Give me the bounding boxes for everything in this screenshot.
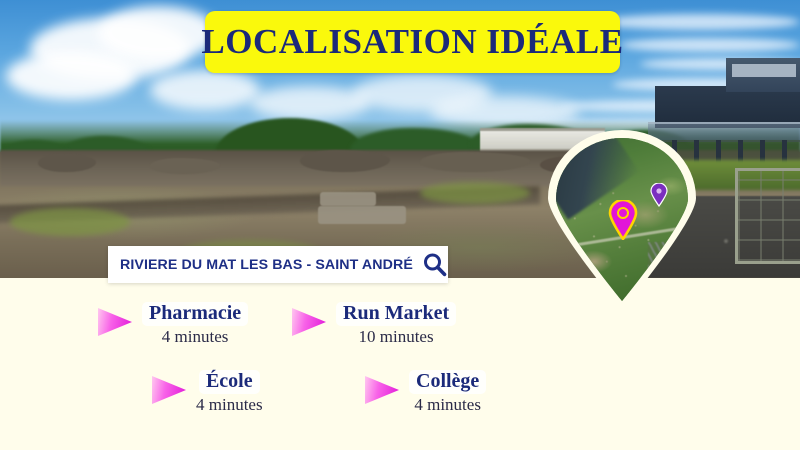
cloud — [620, 38, 800, 52]
title-banner: LOCALISATION IDÉALE — [205, 11, 620, 73]
amenity-time: 4 minutes — [414, 395, 481, 414]
page-title: LOCALISATION IDÉALE — [201, 22, 623, 62]
arrow-right-icon — [292, 308, 326, 336]
amenity-pharmacie: Pharmacie 4 minutes — [98, 302, 248, 347]
primary-location-marker[interactable] — [608, 200, 638, 245]
secondary-location-marker[interactable] — [650, 183, 668, 212]
concrete-slab — [318, 206, 406, 224]
cloud — [98, 6, 218, 60]
amenity-time: 10 minutes — [359, 327, 434, 346]
grass-patch — [420, 182, 530, 204]
address-label: RIVIERE DU MAT LES BAS - SAINT ANDRÉ — [120, 257, 413, 273]
grass-patch — [10, 208, 130, 236]
amenity-time: 4 minutes — [196, 395, 263, 414]
amenity-name: Pharmacie — [142, 302, 248, 326]
amenity-run-market: Run Market 10 minutes — [292, 302, 456, 347]
localisation-poster: LOCALISATION IDÉALE RIVIERE DU MAT LES B… — [0, 0, 800, 450]
concrete-slab — [320, 192, 376, 206]
arrow-right-icon — [365, 376, 399, 404]
amenity-text: Collège 4 minutes — [409, 370, 486, 415]
amenity-text: École 4 minutes — [196, 370, 263, 415]
amenity-text: Run Market 10 minutes — [336, 302, 456, 347]
address-search-bar[interactable]: RIVIERE DU MAT LES BAS - SAINT ANDRÉ — [108, 246, 448, 283]
cloud — [600, 14, 800, 30]
amenity-name: École — [199, 370, 260, 394]
amenity-time: 4 minutes — [162, 327, 229, 346]
map-pin-badge — [548, 130, 696, 310]
building-window — [732, 64, 796, 77]
water-tank — [735, 168, 800, 264]
cloud — [150, 70, 260, 110]
amenity-college: Collège 4 minutes — [365, 370, 486, 415]
search-icon[interactable] — [422, 252, 447, 277]
amenity-text: Pharmacie 4 minutes — [142, 302, 248, 347]
amenity-ecole: École 4 minutes — [152, 370, 263, 415]
arrow-right-icon — [152, 376, 186, 404]
amenity-name: Run Market — [336, 302, 456, 326]
satellite-map — [556, 138, 688, 301]
cloud — [6, 52, 136, 100]
amenities-list: Pharmacie 4 minutes Run Market 10 minute… — [0, 292, 800, 450]
amenity-name: Collège — [409, 370, 486, 394]
arrow-right-icon — [98, 308, 132, 336]
